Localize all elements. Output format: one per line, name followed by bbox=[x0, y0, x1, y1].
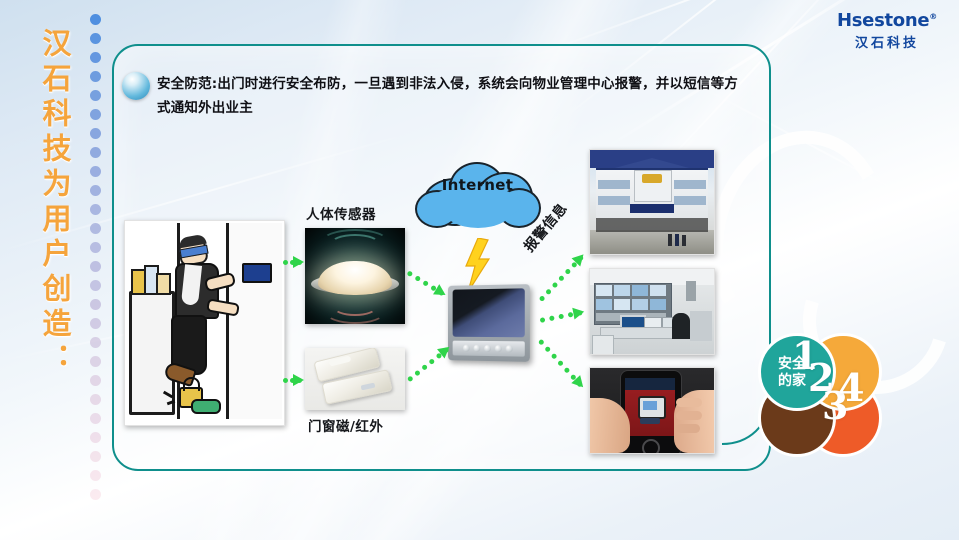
lightning-bolt-icon bbox=[462, 238, 492, 292]
brand-logo: Hsestone® 汉石科技 bbox=[837, 10, 937, 51]
decorative-dot bbox=[90, 489, 101, 500]
decorative-dot bbox=[90, 71, 101, 82]
decorative-dot bbox=[90, 109, 101, 120]
decorative-dot bbox=[90, 147, 101, 158]
decorative-dot bbox=[90, 299, 101, 310]
decorative-dot bbox=[90, 337, 101, 348]
four-circles-graphic: 安全 的家 1 2 3 4 bbox=[752, 331, 892, 461]
decorative-dot bbox=[90, 356, 101, 367]
decorative-dot bbox=[90, 394, 101, 405]
magnet-label: 门窗磁/红外 bbox=[308, 415, 383, 435]
registered-mark: ® bbox=[929, 12, 937, 21]
decorative-dot bbox=[90, 90, 101, 101]
door-window-magnet-photo bbox=[305, 348, 405, 410]
decorative-dot bbox=[90, 280, 101, 291]
internet-cloud-icon: Internet bbox=[415, 160, 540, 232]
decorative-dot bbox=[90, 185, 101, 196]
human-body-sensor-photo bbox=[305, 228, 405, 324]
burglar-illustration bbox=[124, 220, 285, 426]
property-management-building-photo bbox=[589, 149, 715, 255]
decorative-dot bbox=[90, 432, 101, 443]
decorative-dot bbox=[90, 375, 101, 386]
decorative-dot bbox=[90, 223, 101, 234]
slide-canvas: Hsestone® 汉石科技 汉石科技为用户创造： 安全防范:出门时进行安全布防… bbox=[0, 0, 959, 540]
logo-english: Hsestone® bbox=[837, 10, 937, 31]
sensor-label: 人体传感器 bbox=[306, 203, 376, 223]
logo-english-text: Hsestone bbox=[837, 10, 929, 31]
logo-chinese: 汉石科技 bbox=[837, 32, 937, 51]
decorative-dot bbox=[90, 318, 101, 329]
decorative-dot bbox=[90, 14, 101, 25]
indoor-control-panel[interactable] bbox=[446, 285, 530, 361]
decorative-dot bbox=[90, 33, 101, 44]
decorative-dot bbox=[90, 451, 101, 462]
decorative-dot bbox=[90, 242, 101, 253]
smartphone-alarm-photo bbox=[589, 367, 715, 454]
cloud-label: Internet bbox=[415, 176, 540, 194]
safe-home-line2: 的家 bbox=[778, 373, 806, 389]
header-description-text: 安全防范:出门时进行安全布防，一旦遇到非法入侵，系统会向物业管理中心报警，并以短… bbox=[157, 72, 747, 120]
decorative-dot bbox=[90, 261, 101, 272]
decorative-dot bbox=[90, 470, 101, 481]
safe-home-line1: 安全 bbox=[778, 356, 806, 372]
decorative-dot bbox=[90, 166, 101, 177]
decorative-dot-column bbox=[90, 14, 104, 519]
monitoring-control-room-photo bbox=[589, 268, 715, 355]
decorative-dot bbox=[90, 52, 101, 63]
sphere-bullet-icon bbox=[122, 72, 150, 100]
decorative-dot bbox=[90, 413, 101, 424]
circle-number-4: 4 bbox=[838, 369, 864, 407]
page-title-vertical: 汉石科技为用户创造： bbox=[30, 28, 76, 378]
safe-home-label: 安全 的家 bbox=[764, 356, 820, 390]
decorative-dot bbox=[90, 128, 101, 139]
decorative-dot bbox=[90, 204, 101, 215]
